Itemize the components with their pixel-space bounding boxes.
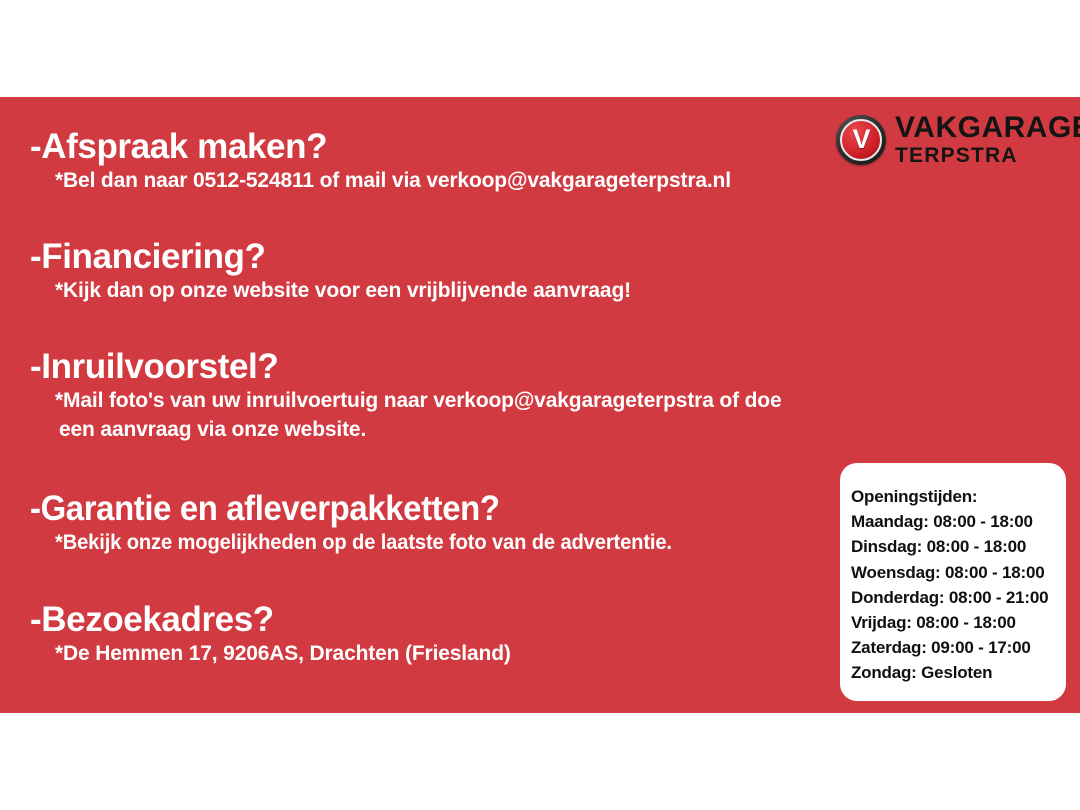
section-detail-line-second: een aanvraag via onze website.: [59, 416, 782, 445]
section-detail-line: *Bekijk onze mogelijkheden op de laatste…: [55, 529, 672, 558]
section-heading: -Afspraak maken?: [30, 129, 731, 165]
section-bezoekadres: -Bezoekadres? *De Hemmen 17, 9206AS, Dra…: [30, 602, 511, 669]
logo-badge-inner-circle: V: [840, 119, 882, 161]
section-detail-line: *Bel dan naar 0512-524811 of mail via ve…: [55, 167, 731, 196]
opening-hours-row: Woensdag: 08:00 - 18:00: [851, 560, 1066, 585]
section-afspraak: -Afspraak maken? *Bel dan naar 0512-5248…: [30, 129, 731, 196]
section-inruilvoorstel: -Inruilvoorstel? *Mail foto's van uw inr…: [30, 349, 782, 444]
opening-hours-title: Openingstijden:: [851, 484, 1066, 509]
section-detail-line-first: *Mail foto's van uw inruilvoertuig naar …: [55, 389, 782, 412]
section-heading: -Bezoekadres?: [30, 602, 511, 638]
vakgarage-terpstra-logo: V VAKGARAGE TERPSTRA: [836, 111, 1072, 169]
opening-hours-row: Dinsdag: 08:00 - 18:00: [851, 534, 1066, 559]
logo-badge-icon: V: [836, 115, 886, 165]
logo-brand-name: VAKGARAGE: [895, 113, 1080, 144]
opening-hours-row: Vrijdag: 08:00 - 18:00: [851, 610, 1066, 635]
red-content-panel: V VAKGARAGE TERPSTRA -Afspraak maken? *B…: [0, 97, 1080, 713]
section-financiering: -Financiering? *Kijk dan op onze website…: [30, 239, 631, 306]
section-garantie: -Garantie en afleverpakketten? *Bekijk o…: [30, 491, 698, 558]
logo-wordmark: VAKGARAGE TERPSTRA: [895, 113, 1080, 168]
opening-hours-row: Maandag: 08:00 - 18:00: [851, 509, 1066, 534]
section-heading: -Inruilvoorstel?: [30, 349, 782, 385]
logo-v-letter: V: [852, 126, 869, 153]
opening-hours-row: Zondag: Gesloten: [851, 660, 1066, 685]
logo-dealer-name: TERPSTRA: [895, 145, 1080, 167]
dealer-info-banner: V VAKGARAGE TERPSTRA -Afspraak maken? *B…: [0, 0, 1080, 810]
section-detail-line: *Kijk dan op onze website voor een vrijb…: [55, 277, 631, 306]
section-detail-line: *De Hemmen 17, 9206AS, Drachten (Friesla…: [55, 640, 511, 669]
opening-hours-card: Openingstijden: Maandag: 08:00 - 18:00 D…: [840, 463, 1066, 701]
section-detail-line: *Mail foto's van uw inruilvoertuig naar …: [55, 387, 782, 444]
section-heading: -Financiering?: [30, 239, 631, 275]
opening-hours-row: Donderdag: 08:00 - 21:00: [851, 585, 1066, 610]
section-heading: -Garantie en afleverpakketten?: [30, 491, 658, 527]
opening-hours-row: Zaterdag: 09:00 - 17:00: [851, 635, 1066, 660]
